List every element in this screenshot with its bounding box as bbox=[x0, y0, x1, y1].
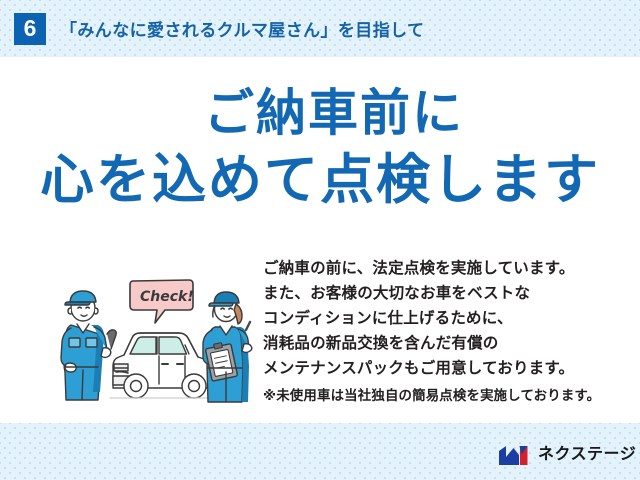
brand-name: ネクステージ bbox=[538, 447, 636, 463]
body-note: ※未使用車は当社独自の簡易点検を実施しております。 bbox=[263, 385, 623, 407]
body-line-2: また、お客様の大切なお車をベストな bbox=[263, 281, 623, 306]
body-line-4: 消耗品の新品交換を含んだ有償の bbox=[263, 331, 623, 356]
speech-bubble-text: Check! bbox=[140, 289, 194, 305]
step-number-badge: 6 bbox=[14, 13, 46, 45]
body-line-3: コンディションに仕上げるために、 bbox=[263, 306, 623, 331]
body-copy: ご納車の前に、法定点検を実施しています。 また、お客様の大切なお車をベストな コ… bbox=[263, 256, 623, 406]
body-line-5: メンテナンスパックもご用意しております。 bbox=[263, 356, 623, 381]
nextage-n-mark-icon bbox=[498, 445, 532, 466]
headline-line-2: 心を込めて点検します bbox=[0, 153, 640, 208]
page-header: 6 「みんなに愛されるクルマ屋さん」を目指して bbox=[0, 0, 640, 57]
body-line-1: ご納車の前に、法定点検を実施しています。 bbox=[263, 256, 623, 281]
brand-logo: ネクステージ bbox=[498, 440, 636, 470]
headline: ご納車前に 心を込めて点検します bbox=[0, 88, 640, 208]
headline-line-1: ご納車前に bbox=[0, 88, 640, 139]
header-title: 「みんなに愛されるクルマ屋さん」を目指して bbox=[60, 16, 424, 41]
advertisement-page: 6 「みんなに愛されるクルマ屋さん」を目指して ご納車前に 心を込めて点検します bbox=[0, 0, 640, 480]
mechanics-car-illustration: Check! bbox=[58, 264, 263, 406]
